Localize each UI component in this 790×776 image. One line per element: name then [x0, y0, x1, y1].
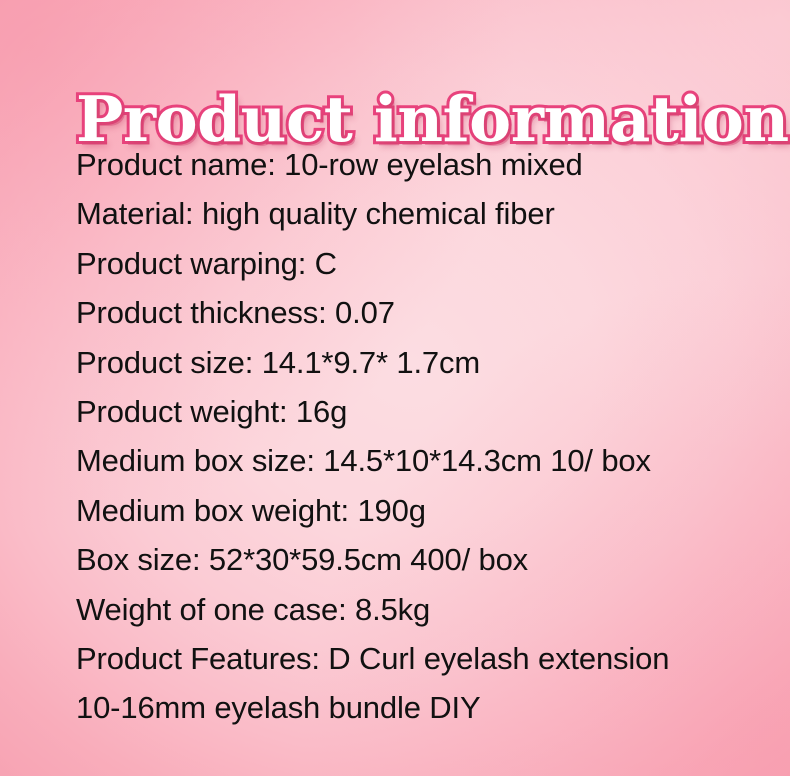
- spec-line-box-size: Box size: 52*30*59.5cm 400/ box: [76, 535, 770, 584]
- poster-content: Product information Product name: 10-row…: [0, 0, 790, 776]
- product-information-poster: Product information Product name: 10-row…: [0, 0, 790, 776]
- spec-line-material: Material: high quality chemical fiber: [76, 189, 770, 238]
- spec-line-product-size: Product size: 14.1*9.7* 1.7cm: [76, 338, 770, 387]
- product-spec-list: Product name: 10-row eyelash mixed Mater…: [76, 140, 770, 733]
- spec-line-product-features-2: 10-16mm eyelash bundle DIY: [76, 683, 770, 732]
- spec-line-product-warping: Product warping: C: [76, 239, 770, 288]
- spec-line-medium-box-weight: Medium box weight: 190g: [76, 486, 770, 535]
- spec-line-product-features: Product Features: D Curl eyelash extensi…: [76, 634, 770, 683]
- spec-line-case-weight: Weight of one case: 8.5kg: [76, 585, 770, 634]
- spec-line-product-name: Product name: 10-row eyelash mixed: [76, 140, 770, 189]
- spec-line-product-weight: Product weight: 16g: [76, 387, 770, 436]
- spec-line-medium-box-size: Medium box size: 14.5*10*14.3cm 10/ box: [76, 436, 770, 485]
- spec-line-product-thickness: Product thickness: 0.07: [76, 288, 770, 337]
